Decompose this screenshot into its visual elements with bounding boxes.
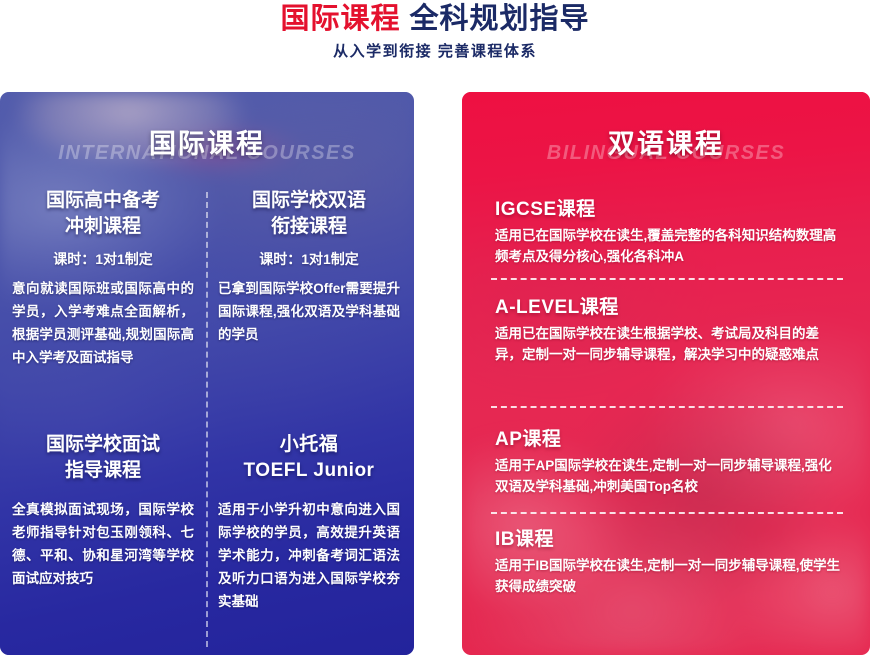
horizontal-dashed-divider bbox=[491, 512, 843, 514]
quadrant-item[interactable]: 小托福 TOEFL Junior 适用于小学升初中意向进入国际学校的学员，高效提… bbox=[210, 432, 408, 613]
course-title: IGCSE课程 bbox=[495, 194, 845, 221]
quadrant-body: 意向就读国际班或国际高中的学员，入学考难点全面解析，根据学员测评基础,规划国际高… bbox=[12, 277, 194, 369]
quadrant-title: 小托福 TOEFL Junior bbox=[218, 432, 400, 484]
horizontal-dashed-divider bbox=[491, 406, 843, 408]
quadrant-item[interactable]: 国际学校面试 指导课程 全真模拟面试现场，国际学校老师指导针对包玉刚领科、七德、… bbox=[4, 432, 202, 590]
quadrant-body: 已拿到国际学校Offer需要提升国际课程,强化双语及学科基础的学员 bbox=[218, 277, 400, 346]
page-title-primary: 国际课程 bbox=[280, 3, 400, 35]
page-title-secondary: 全科规划指导 bbox=[410, 3, 590, 35]
card-title-left: 国际课程 bbox=[0, 122, 414, 161]
course-list-item[interactable]: A-LEVEL课程 适用已在国际学校在读生根据学校、考试局及科目的差异，定制一对… bbox=[495, 292, 845, 365]
page-header: 国际课程 全科规划指导 从入学到衔接 完善课程体系 bbox=[0, 0, 870, 61]
course-list-item[interactable]: AP课程 适用于AP国际学校在读生,定制一对一同步辅导课程,强化双语及学科基础,… bbox=[495, 424, 845, 497]
page-title: 国际课程 全科规划指导 bbox=[0, 2, 870, 36]
course-cards-row: INTERNATIONAL COURSES 国际课程 国际高中备考 冲刺课程 课… bbox=[0, 92, 870, 655]
card-header-right: BILINGUAL COURSES 双语课程 bbox=[462, 92, 870, 188]
course-title: AP课程 bbox=[495, 424, 845, 451]
quadrant-item[interactable]: 国际高中备考 冲刺课程 课时：1对1制定 意向就读国际班或国际高中的学员，入学考… bbox=[4, 188, 202, 369]
course-list-item[interactable]: IB课程 适用于IB国际学校在读生,定制一对一同步辅导课程,使学生获得成绩突破 bbox=[495, 524, 845, 597]
quadrant-title: 国际学校面试 指导课程 bbox=[12, 432, 194, 484]
quadrant-grid: 国际高中备考 冲刺课程 课时：1对1制定 意向就读国际班或国际高中的学员，入学考… bbox=[0, 188, 414, 655]
course-title: A-LEVEL课程 bbox=[495, 292, 845, 319]
course-list: IGCSE课程 适用已在国际学校在读生,覆盖完整的各科知识结构数理高频考点及得分… bbox=[462, 188, 870, 655]
course-description: 适用于AP国际学校在读生,定制一对一同步辅导课程,强化双语及学科基础,冲刺美国T… bbox=[495, 455, 845, 497]
quadrant-meta: 课时：1对1制定 bbox=[12, 249, 194, 269]
course-title: IB课程 bbox=[495, 524, 845, 551]
card-title-right: 双语课程 bbox=[462, 122, 870, 161]
quadrant-title: 国际学校双语 衔接课程 bbox=[218, 188, 400, 240]
card-header-left: INTERNATIONAL COURSES 国际课程 bbox=[0, 92, 414, 188]
quadrant-title: 国际高中备考 冲刺课程 bbox=[12, 188, 194, 240]
page-subtitle: 从入学到衔接 完善课程体系 bbox=[0, 40, 870, 61]
course-description: 适用已在国际学校在读生,覆盖完整的各科知识结构数理高频考点及得分核心,强化各科冲… bbox=[495, 225, 845, 267]
card-international-courses[interactable]: INTERNATIONAL COURSES 国际课程 国际高中备考 冲刺课程 课… bbox=[0, 92, 414, 655]
course-list-item[interactable]: IGCSE课程 适用已在国际学校在读生,覆盖完整的各科知识结构数理高频考点及得分… bbox=[495, 194, 845, 267]
card-bilingual-courses[interactable]: BILINGUAL COURSES 双语课程 IGCSE课程 适用已在国际学校在… bbox=[462, 92, 870, 655]
quadrant-body: 全真模拟面试现场，国际学校老师指导针对包玉刚领科、七德、平和、协和星河湾等学校面… bbox=[12, 498, 194, 590]
course-description: 适用于IB国际学校在读生,定制一对一同步辅导课程,使学生获得成绩突破 bbox=[495, 555, 845, 597]
quadrant-item[interactable]: 国际学校双语 衔接课程 课时：1对1制定 已拿到国际学校Offer需要提升国际课… bbox=[210, 188, 408, 346]
horizontal-dashed-divider bbox=[491, 278, 843, 280]
quadrant-body: 适用于小学升初中意向进入国际学校的学员，高效提升英语学术能力，冲刺备考词汇语法及… bbox=[218, 498, 400, 613]
course-description: 适用已在国际学校在读生根据学校、考试局及科目的差异，定制一对一同步辅导课程，解决… bbox=[495, 323, 845, 365]
quadrant-meta: 课时：1对1制定 bbox=[218, 249, 400, 269]
